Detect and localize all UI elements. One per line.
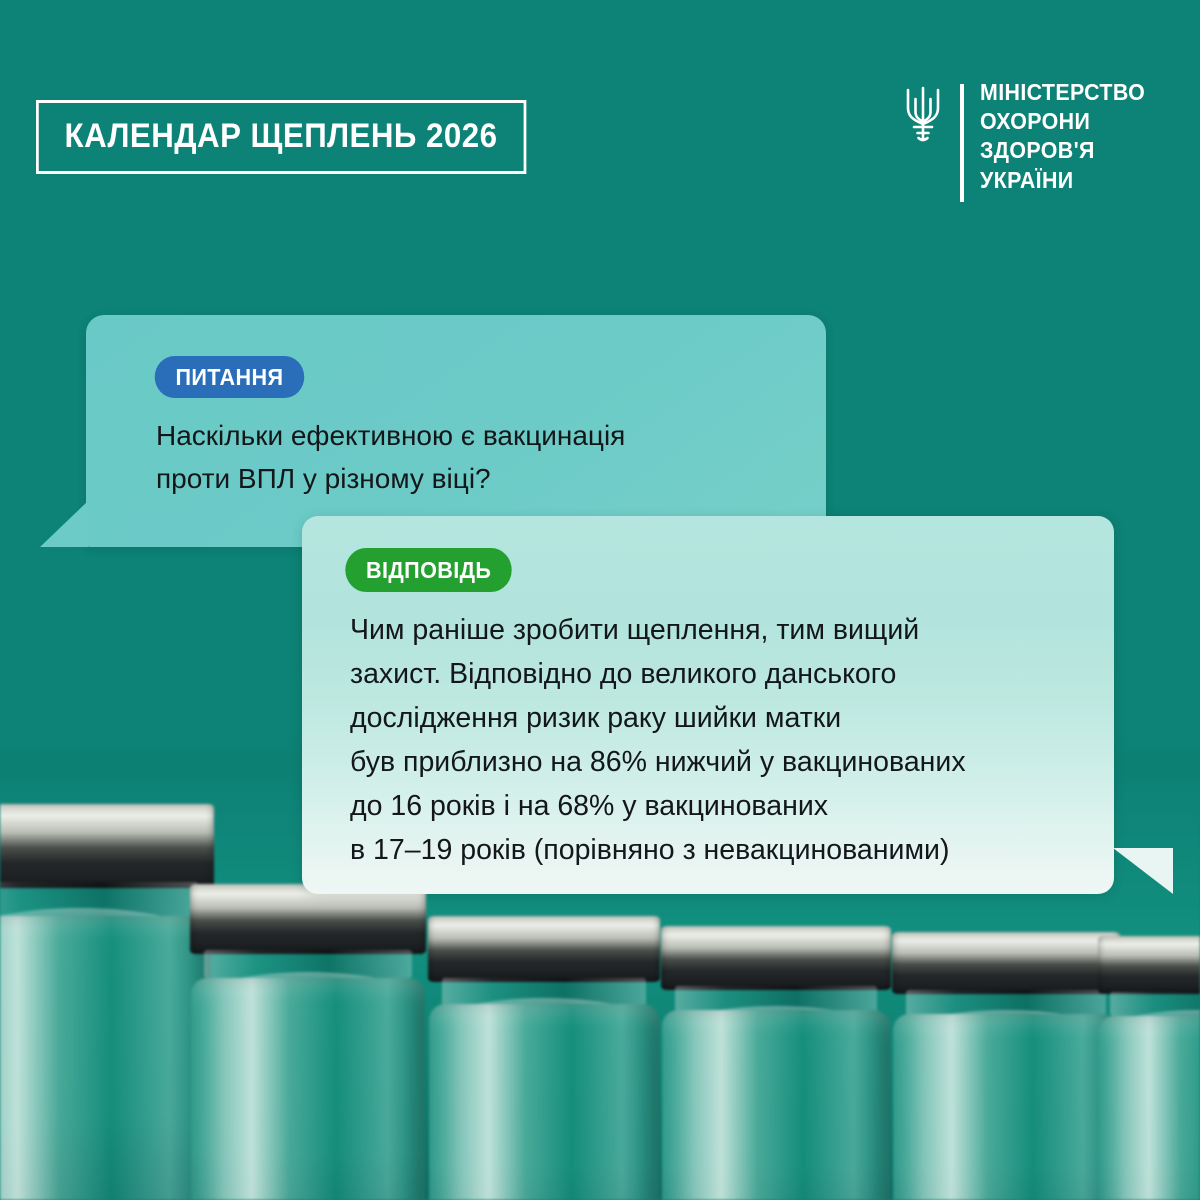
logo-line-4: УКРАЇНИ [980,166,1145,195]
logo-divider [960,84,964,202]
logo-line-1: МІНІСТЕРСТВО [980,78,1145,107]
answer-text: Чим раніше зробити щеплення, тим вищий з… [350,608,1110,872]
question-text: Наскільки ефективною є вакцинація проти … [156,414,836,500]
ministry-logo: МІНІСТЕРСТВО ОХОРОНИ ЗДОРОВ'Я УКРАЇНИ [900,78,1158,202]
poster-canvas: КАЛЕНДАР ЩЕПЛЕНЬ 2026 МІНІСТЕРСТВО ОХОРО… [0,0,1200,1200]
answer-badge: ВІДПОВІДЬ [345,548,512,592]
page-title: КАЛЕНДАР ЩЕПЛЕНЬ 2026 [36,100,526,174]
question-card-tail [40,501,88,547]
answer-card-tail [1113,848,1173,894]
logo-line-3: ЗДОРОВ'Я [980,136,1145,165]
ministry-name: МІНІСТЕРСТВО ОХОРОНИ ЗДОРОВ'Я УКРАЇНИ [980,78,1145,195]
question-badge: ПИТАННЯ [155,356,304,398]
ukraine-trident-icon [900,82,946,144]
logo-line-2: ОХОРОНИ [980,107,1145,136]
